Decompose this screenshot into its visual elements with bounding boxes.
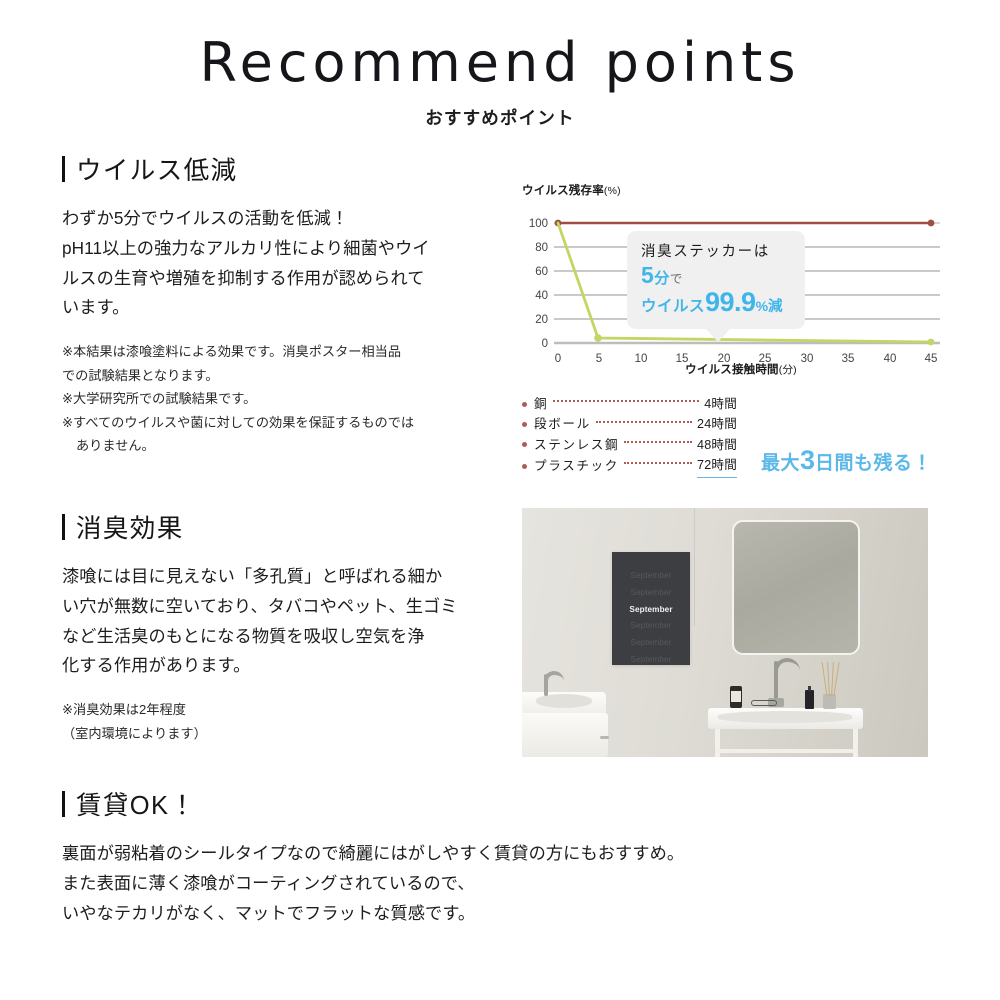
- note-line: ありません。: [62, 434, 522, 458]
- callout-percent-sign: %: [756, 298, 768, 314]
- amber-jar: [730, 686, 742, 708]
- section-title: ウイルス低減: [76, 150, 237, 187]
- legend-material: プラスチック: [534, 456, 619, 476]
- section-title: 消臭効果: [76, 508, 184, 545]
- chart-y-ticks: 100 80 60 40 20 0: [529, 218, 548, 350]
- chart-wrap: ウイルス残存率(%) 100 80: [522, 182, 942, 478]
- section-heading: 消臭効果: [62, 508, 522, 545]
- page-title: Recommend points: [0, 34, 1000, 92]
- callout-minutes-unit: 分: [654, 270, 670, 287]
- body-line: わずか5分でウイルスの活動を低減！: [62, 204, 522, 234]
- page-subtitle: おすすめポイント: [0, 105, 1000, 130]
- section-heading: ウイルス低減: [62, 150, 522, 187]
- section-virus-reduction: ウイルス低減 わずか5分でウイルスの活動を低減！ pH11以上の強力なアルカリ性…: [62, 150, 522, 458]
- toilet-hand-basin: [536, 694, 592, 708]
- vanity-rail: [715, 749, 858, 753]
- chart-callout: 消臭ステッカーは 5分で ウイルス99.9%減: [627, 231, 805, 329]
- poster-line: September: [612, 585, 690, 602]
- callout-virus-label: ウイルス: [641, 298, 705, 315]
- note-line: （室内環境によります）: [62, 722, 522, 746]
- page-header: Recommend points おすすめポイント: [0, 0, 1000, 130]
- dark-bottle: [805, 690, 814, 709]
- wall-seam: [694, 508, 695, 626]
- callout-line-2: 5分で: [641, 262, 795, 289]
- body-line: 漆喰には目に見えない「多孔質」と呼ばれる細か: [62, 562, 522, 592]
- legend-item: 段ボール 24時間: [522, 414, 737, 434]
- callout-particle: で: [670, 272, 683, 286]
- body-line: また表面に薄く漆喰がコーティングされているので、: [62, 869, 922, 899]
- poster-line: September: [612, 635, 690, 652]
- poster-line: September: [612, 568, 690, 585]
- x-tick-label: 10: [635, 353, 648, 365]
- x-tick-label: 5: [596, 353, 602, 365]
- bathroom-photo: September September September September …: [522, 508, 928, 757]
- poster-line: September: [612, 618, 690, 635]
- sink-faucet-neck: [774, 661, 778, 703]
- vanity-basin: [718, 711, 852, 723]
- section-deodorize: 消臭効果 漆喰には目に見えない「多孔質」と呼ばれる細か い穴が無数に空いており、…: [62, 508, 522, 745]
- y-tick-label: 80: [535, 242, 548, 254]
- eyeglasses: [751, 700, 777, 706]
- callout-line-1: 消臭ステッカーは: [641, 240, 795, 261]
- callout-reduce-label: 減: [768, 299, 783, 315]
- x-tick-label: 15: [676, 353, 689, 365]
- legend-item: ステンレス鋼 48時間: [522, 435, 737, 455]
- y-tick-label: 40: [535, 290, 548, 302]
- note-line: ※大学研究所での試験結果です。: [62, 387, 522, 411]
- y-tick-label: 60: [535, 266, 548, 278]
- caption-number: 3: [800, 445, 815, 475]
- body-line: 化する作用があります。: [62, 651, 522, 681]
- legend-dot-icon: [522, 402, 527, 407]
- note-line: での試験結果となります。: [62, 364, 522, 388]
- legend-leader-dots: [553, 400, 699, 402]
- bathroom-photo-wrap: September September September September …: [522, 508, 942, 757]
- callout-line-3: ウイルス99.9%減: [641, 287, 795, 318]
- legend-leader-dots: [624, 462, 692, 464]
- legend-dot-icon: [522, 422, 527, 427]
- y-tick-label: 20: [535, 314, 548, 326]
- x-tick-label: 40: [884, 353, 897, 365]
- toilet-faucet: [544, 674, 548, 696]
- y-axis-label-text: ウイルス残存率: [522, 185, 604, 197]
- x-tick-label: 35: [842, 353, 855, 365]
- body-line: など生活臭のもとになる物質を吸収し空気を浄: [62, 622, 522, 652]
- legend-dot-icon: [522, 442, 527, 447]
- virus-survival-chart: ウイルス残存率(%) 100 80: [522, 182, 942, 478]
- chart-series-control: [555, 220, 935, 227]
- note-line: ※本結果は漆喰塗料による効果です。消臭ポスター相当品: [62, 340, 522, 364]
- poster-line-highlight: September: [612, 602, 690, 619]
- chart-legend-row: 銅 4時間 段ボール 24時間 ステンレス鋼 48時間: [522, 394, 942, 478]
- x-tick-label: 30: [801, 353, 814, 365]
- y-tick-label: 0: [542, 338, 548, 350]
- recommend-points-page: Recommend points おすすめポイント ウイルス低減 わずか5分でウ…: [0, 0, 1000, 1000]
- section-rental-ok: 賃貸OK！ 裏面が弱粘着のシールタイプなので綺麗にはがしやすく賃貸の方にもおすす…: [62, 785, 922, 928]
- section-notes: ※消臭効果は2年程度 （室内環境によります）: [62, 698, 522, 745]
- body-line: いやなテカリがなく、マットでフラットな質感です。: [62, 899, 922, 929]
- y-axis-label-unit: (%): [604, 185, 621, 197]
- note-line: ※すべてのウイルスや菌に対しての効果を保証するものでは: [62, 411, 522, 435]
- reed-sticks: [822, 662, 840, 696]
- legend-leader-dots: [596, 421, 692, 423]
- x-tick-label: 25: [759, 353, 772, 365]
- heading-bar-icon: [62, 791, 65, 817]
- heading-bar-icon: [62, 156, 65, 182]
- legend-duration: 4時間: [704, 394, 737, 414]
- y-tick-label: 100: [529, 218, 548, 230]
- note-line: ※消臭効果は2年程度: [62, 698, 522, 722]
- legend-duration: 72時間: [697, 455, 737, 477]
- callout-minutes-value: 5: [641, 262, 654, 288]
- legend-caption: 最大3日間も残る！: [761, 445, 932, 478]
- section-heading: 賃貸OK！: [62, 785, 922, 822]
- section-notes: ※本結果は漆喰塗料による効果です。消臭ポスター相当品 での試験結果となります。 …: [62, 340, 522, 458]
- toilet-tank: [522, 713, 608, 757]
- caption-suffix: 日間も残る！: [815, 453, 932, 474]
- chart-legend: 銅 4時間 段ボール 24時間 ステンレス鋼 48時間: [522, 394, 737, 478]
- legend-material: ステンレス鋼: [534, 435, 619, 455]
- chart-y-axis-label: ウイルス残存率(%): [522, 182, 942, 198]
- september-poster: September September September September …: [612, 552, 690, 665]
- body-line: 裏面が弱粘着のシールタイプなので綺麗にはがしやすく賃貸の方にもおすすめ。: [62, 839, 922, 869]
- legend-leader-dots: [624, 441, 692, 443]
- body-line: います。: [62, 293, 522, 323]
- legend-material: 段ボール: [534, 414, 591, 434]
- legend-item: プラスチック 72時間: [522, 455, 737, 477]
- section-body: わずか5分でウイルスの活動を低減！ pH11以上の強力なアルカリ性により細菌やウ…: [62, 204, 522, 323]
- section-body: 裏面が弱粘着のシールタイプなので綺麗にはがしやすく賃貸の方にもおすすめ。 また表…: [62, 839, 922, 928]
- legend-item: 銅 4時間: [522, 394, 737, 414]
- chart-x-ticks: 0 5 10 15 20 25 30 35 40 45: [555, 353, 938, 365]
- heading-bar-icon: [62, 514, 65, 540]
- body-line: ルスの生育や増殖を抑制する作用が認められて: [62, 264, 522, 294]
- poster-line: September: [612, 652, 690, 669]
- legend-duration: 24時間: [697, 414, 737, 434]
- legend-duration: 48時間: [697, 435, 737, 455]
- callout-percent-value: 99.9: [705, 287, 756, 317]
- wall-mirror: [732, 520, 860, 655]
- body-line: pH11以上の強力なアルカリ性により細菌やウイ: [62, 234, 522, 264]
- reed-diffuser-vessel: [823, 694, 836, 709]
- caption-prefix: 最大: [761, 453, 800, 474]
- body-line: い穴が無数に空いており、タバコやペット、生ゴミ: [62, 592, 522, 622]
- section-body: 漆喰には目に見えない「多孔質」と呼ばれる細か い穴が無数に空いており、タバコやペ…: [62, 562, 522, 681]
- legend-material: 銅: [534, 394, 548, 414]
- x-tick-label: 0: [555, 353, 561, 365]
- toilet-flush-handle: [600, 736, 609, 739]
- x-tick-label: 20: [718, 353, 731, 365]
- legend-dot-icon: [522, 464, 527, 469]
- section-title: 賃貸OK！: [76, 785, 196, 822]
- x-tick-label: 45: [925, 353, 938, 365]
- chart-plot-area: 100 80 60 40 20 0: [522, 205, 942, 355]
